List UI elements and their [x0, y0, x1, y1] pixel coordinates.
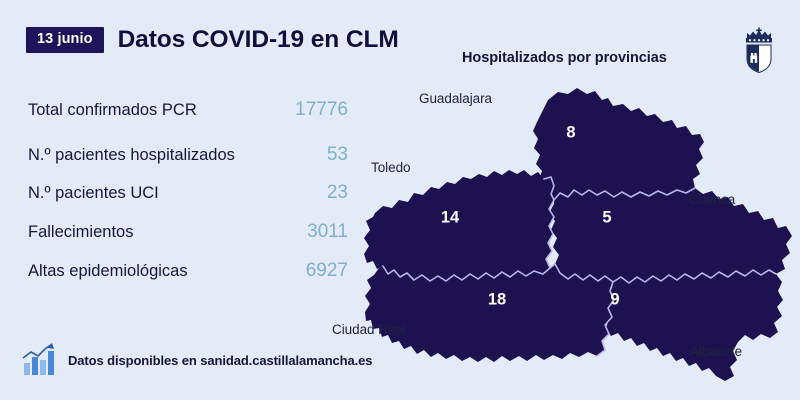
- map-label-cuenca: Cuenca: [689, 192, 735, 207]
- stat-label: Altas epidemiológicas: [28, 261, 188, 283]
- castilla-la-mancha-coat-of-arms-icon: [737, 22, 781, 74]
- stat-value: 3011: [307, 222, 348, 244]
- map-label-toledo: Toledo: [371, 160, 410, 175]
- map-label-guadalajara: Guadalajara: [419, 91, 492, 106]
- map-label-ciudad-real: Ciudad Real: [332, 322, 406, 337]
- map-region-cuenca[interactable]: [549, 188, 792, 283]
- castilla-la-mancha-map: [355, 78, 800, 383]
- stat-row-fallecimientos: Fallecimientos 3011: [28, 218, 348, 244]
- map-container: 8 14 5 18 9: [355, 78, 800, 383]
- stat-label: Fallecimientos: [28, 222, 133, 244]
- stat-row-total-pcr: Total confirmados PCR 17776: [28, 96, 348, 122]
- footer-text: Datos disponibles en sanidad.castillalam…: [68, 353, 372, 368]
- stat-row-uci: N.º pacientes UCI 23: [28, 179, 348, 205]
- page-title: Datos COVID-19 en CLM: [118, 28, 399, 53]
- bar-chart-growth-icon: [18, 339, 60, 381]
- date-badge: 13 junio: [26, 27, 104, 53]
- stat-value: 17776: [295, 100, 348, 122]
- map-region-guadalajara[interactable]: [533, 88, 704, 200]
- stat-value: 23: [327, 183, 348, 205]
- stat-row-altas: Altas epidemiológicas 6927: [28, 257, 348, 283]
- map-label-albacete: Albacete: [690, 344, 742, 359]
- footer: Datos disponibles en sanidad.castillalam…: [18, 339, 372, 381]
- covid-infographic: 13 junio Datos COVID-19 en CLM Total con…: [0, 0, 800, 400]
- stat-label: N.º pacientes UCI: [28, 183, 159, 205]
- stat-value: 53: [327, 145, 348, 167]
- stat-value: 6927: [306, 261, 348, 283]
- map-region-toledo[interactable]: [364, 170, 554, 281]
- map-region-albacete[interactable]: [604, 270, 783, 381]
- statistics-list: Total confirmados PCR 17776 N.º paciente…: [28, 96, 348, 283]
- stat-row-hospitalizados: N.º pacientes hospitalizados 53: [28, 141, 348, 167]
- stat-label: Total confirmados PCR: [28, 100, 197, 122]
- map-region-ciudad-real[interactable]: [365, 264, 614, 362]
- stat-label: N.º pacientes hospitalizados: [28, 145, 235, 167]
- header: 13 junio Datos COVID-19 en CLM: [26, 27, 399, 53]
- map-title: Hospitalizados por provincias: [462, 50, 667, 66]
